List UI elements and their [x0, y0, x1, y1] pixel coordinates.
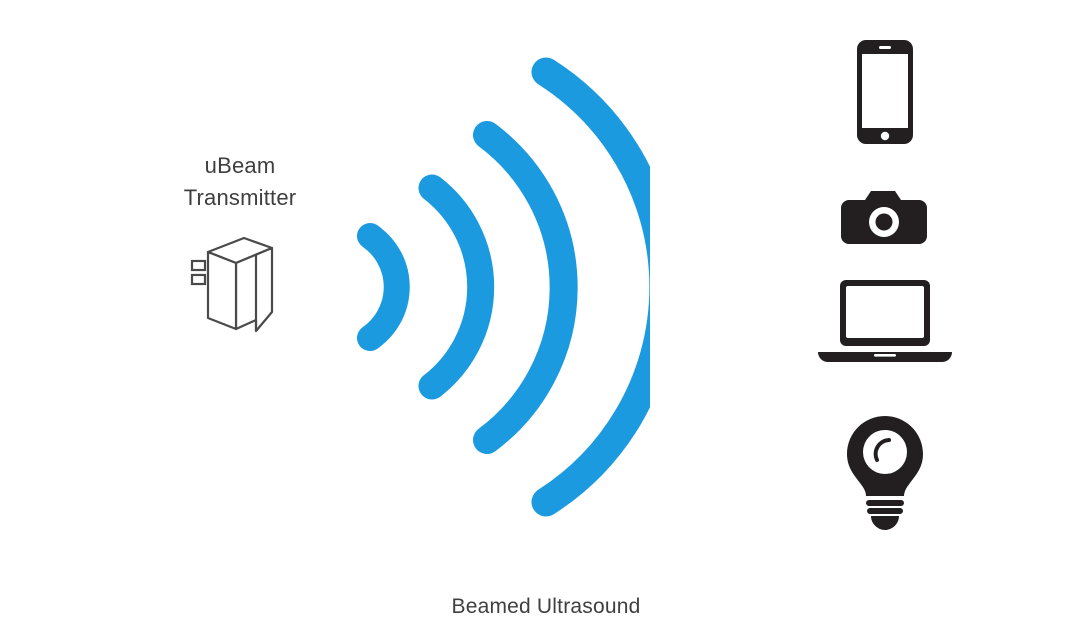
wave-arc-3	[487, 135, 564, 440]
ultrasound-waves-icon	[350, 50, 650, 530]
diagram-caption: Beamed Ultrasound	[0, 595, 1092, 619]
smartphone-icon	[800, 36, 970, 161]
transmitter-label-line1: uBeam	[140, 150, 340, 182]
transmitter-label-line2: Transmitter	[140, 182, 340, 214]
transmitter-label: uBeam Transmitter	[140, 150, 340, 214]
camera-icon	[800, 176, 970, 261]
laptop-icon	[800, 270, 970, 385]
receiving-devices-group	[800, 30, 970, 530]
transmitter-box-icon	[186, 234, 282, 344]
lightbulb-icon	[800, 410, 970, 535]
diagram-canvas: uBeam Transmitter	[0, 0, 1092, 642]
wave-arc-2	[432, 188, 481, 386]
wave-arc-1	[370, 236, 397, 338]
